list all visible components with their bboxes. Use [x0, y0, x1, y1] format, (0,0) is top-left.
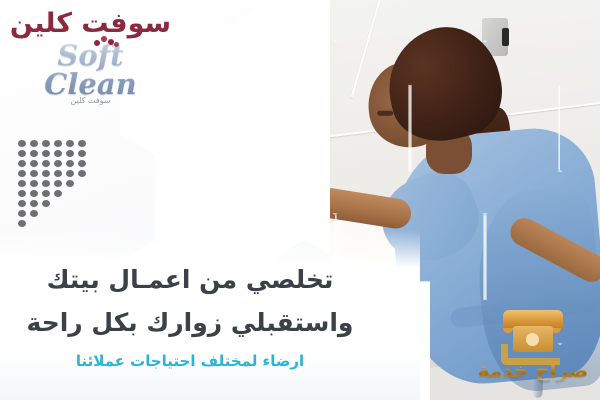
dot [30, 170, 38, 177]
brand-logo[interactable]: سوفت كلين Soft Clean سوفت كلين [8, 10, 173, 100]
dot-matrix-decoration [18, 140, 96, 232]
dot [66, 180, 74, 187]
dot [30, 190, 38, 197]
brand-name-arabic: سوفت كلين [8, 10, 173, 37]
headline-block: تخلصي من اعمـال بيتك واستقبلي زوارك بكل … [0, 258, 380, 370]
dot [18, 150, 26, 157]
dot [30, 200, 38, 207]
dot [42, 140, 50, 147]
dot [78, 170, 86, 177]
partner-logo[interactable]: صراح خدمة [474, 310, 592, 394]
dot [42, 170, 50, 177]
dot [18, 140, 26, 147]
dot [30, 160, 38, 167]
brand-subtitle: سوفت كلين [8, 96, 173, 105]
dot [30, 210, 38, 217]
dot [42, 160, 50, 167]
dot [78, 160, 86, 167]
dot [66, 140, 74, 147]
dot [66, 170, 74, 177]
dot [18, 220, 26, 227]
dot [54, 190, 62, 197]
dot [66, 160, 74, 167]
dot [54, 160, 62, 167]
dot [18, 210, 26, 217]
headline-tagline: ارضاء لمختلف احتياجات عملائنا [0, 352, 380, 370]
flower-dots-icon [94, 36, 120, 48]
dot [54, 150, 62, 157]
dot [42, 190, 50, 197]
dot [42, 150, 50, 157]
dot [42, 180, 50, 187]
dot [30, 150, 38, 157]
headline-line-1: تخلصي من اعمـال بيتك [0, 258, 380, 301]
dot [78, 140, 86, 147]
dot [42, 200, 50, 207]
storefront-icon [497, 310, 569, 358]
dot [18, 200, 26, 207]
dot [18, 190, 26, 197]
dot [18, 180, 26, 187]
dot [30, 180, 38, 187]
headline-line-2: واستقبلي زوارك بكل راحة [0, 301, 380, 344]
dot [18, 160, 26, 167]
brand-name-english: Soft Clean [8, 41, 173, 99]
dot [30, 140, 38, 147]
dot [54, 180, 62, 187]
dot [78, 150, 86, 157]
dot [18, 170, 26, 177]
dot [66, 150, 74, 157]
dot [54, 140, 62, 147]
dot [54, 170, 62, 177]
advertisement-banner: سوفت كلين Soft Clean سوفت كلين تخلصي من … [0, 0, 600, 400]
